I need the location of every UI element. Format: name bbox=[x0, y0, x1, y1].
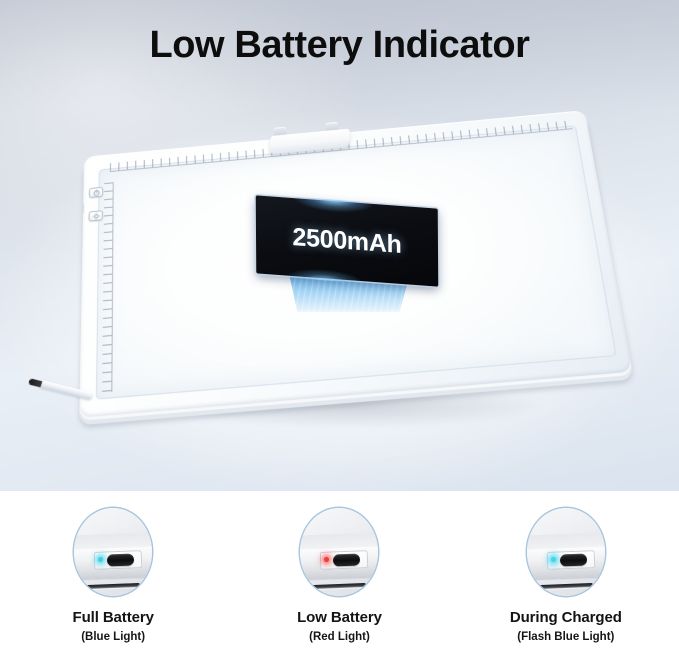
power-button[interactable] bbox=[89, 187, 103, 198]
lens-gloss bbox=[527, 508, 605, 552]
device-seam-line bbox=[86, 583, 140, 589]
indicator-caption: Low Battery (Red Light) bbox=[297, 608, 382, 645]
stylus-tip bbox=[28, 378, 42, 387]
brightness-icon bbox=[92, 212, 100, 220]
closeup-circle bbox=[527, 508, 605, 596]
lens-gloss bbox=[300, 508, 378, 552]
indicator-caption: During Charged (Flash Blue Light) bbox=[510, 608, 622, 645]
indicator-row: Full Battery (Blue Light) Low Battery bbox=[0, 491, 679, 652]
indicator-subtitle: (Blue Light) bbox=[73, 629, 154, 645]
indicator-caption: Full Battery (Blue Light) bbox=[73, 608, 154, 645]
usb-c-port bbox=[333, 553, 360, 566]
battery-led-indicator bbox=[551, 557, 556, 562]
device-seam-line bbox=[539, 583, 593, 589]
badge-label: 2500mAh bbox=[256, 195, 439, 286]
usb-c-port bbox=[107, 553, 134, 566]
hero-section: Low Battery Indicator bbox=[0, 0, 679, 491]
indicator-subtitle: (Red Light) bbox=[297, 629, 382, 645]
page-title: Low Battery Indicator bbox=[0, 20, 679, 70]
indicator-during-charged: During Charged (Flash Blue Light) bbox=[453, 491, 679, 652]
indicator-title: Low Battery bbox=[297, 608, 382, 627]
brightness-button[interactable] bbox=[89, 210, 103, 221]
indicator-title: During Charged bbox=[510, 608, 622, 627]
lens-gloss bbox=[74, 508, 152, 552]
usb-c-port bbox=[560, 553, 587, 566]
indicator-low-battery: Low Battery (Red Light) bbox=[226, 491, 452, 652]
closeup-circle bbox=[300, 508, 378, 596]
battery-capacity-badge: 2500mAh bbox=[248, 196, 444, 312]
power-icon bbox=[92, 188, 100, 196]
closeup-circle bbox=[74, 508, 152, 596]
indicator-subtitle: (Flash Blue Light) bbox=[510, 629, 622, 645]
indicator-title: Full Battery bbox=[73, 608, 154, 627]
device-seam-line bbox=[312, 583, 366, 589]
indicator-full-battery: Full Battery (Blue Light) bbox=[0, 491, 226, 652]
product-feature-page: Low Battery Indicator bbox=[0, 0, 679, 652]
charging-port-notch bbox=[80, 203, 84, 214]
